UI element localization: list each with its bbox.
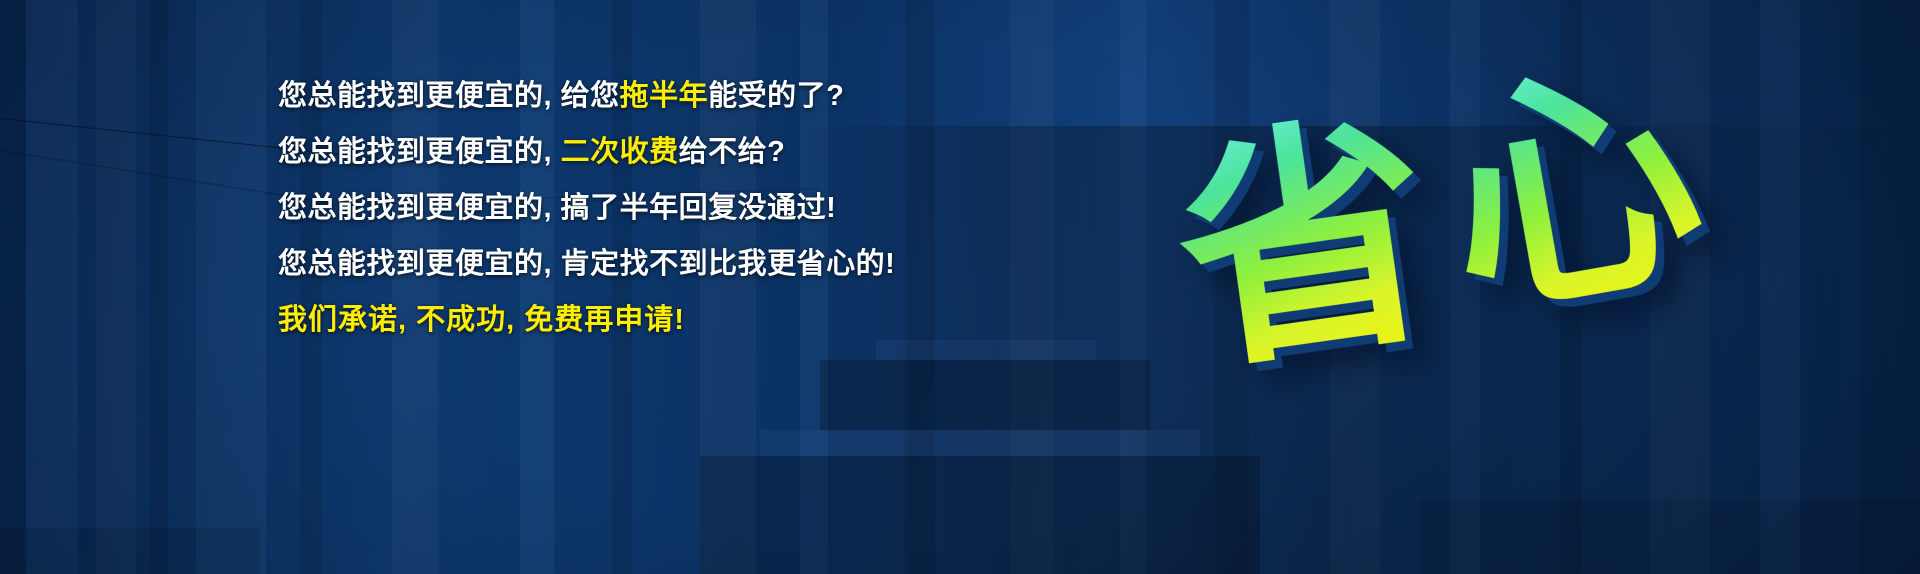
copy-line-2-segment-1: 您总能找到更便宜的,: [278, 136, 561, 168]
copy-line-5-segment-1: 我们承诺, 不成功, 免费再申请!: [278, 304, 685, 336]
copy-line-1: 您总能找到更便宜的, 给您拖半年能受的了?: [278, 82, 978, 111]
copy-line-1-segment-1: 您总能找到更便宜的, 给您: [278, 80, 620, 112]
copy-line-4: 您总能找到更便宜的, 肯定找不到比我更省心的!: [278, 250, 978, 279]
copy-line-2-segment-3: 给不给?: [679, 136, 786, 168]
copy-line-5-promise: 我们承诺, 不成功, 免费再申请!: [278, 306, 978, 335]
promo-banner: 您总能找到更便宜的, 给您拖半年能受的了? 您总能找到更便宜的, 二次收费给不给…: [0, 0, 1920, 574]
copy-line-2-highlight: 二次收费: [561, 136, 679, 168]
copy-line-2: 您总能找到更便宜的, 二次收费给不给?: [278, 138, 978, 167]
hero-characters: 省 心: [1180, 58, 1780, 398]
hero-character-xin: 心: [1428, 46, 1718, 336]
copy-line-3: 您总能找到更便宜的, 搞了半年回复没通过!: [278, 194, 978, 223]
copy-line-1-highlight: 拖半年: [620, 80, 709, 112]
copy-line-1-segment-3: 能受的了?: [708, 80, 844, 112]
copy-line-3-segment-1: 您总能找到更便宜的, 搞了半年回复没通过!: [278, 192, 836, 224]
marketing-copy-block: 您总能找到更便宜的, 给您拖半年能受的了? 您总能找到更便宜的, 二次收费给不给…: [278, 82, 978, 335]
hero-character-sheng: 省: [1164, 104, 1446, 386]
copy-line-4-segment-1: 您总能找到更便宜的, 肯定找不到比我更省心的!: [278, 248, 895, 280]
